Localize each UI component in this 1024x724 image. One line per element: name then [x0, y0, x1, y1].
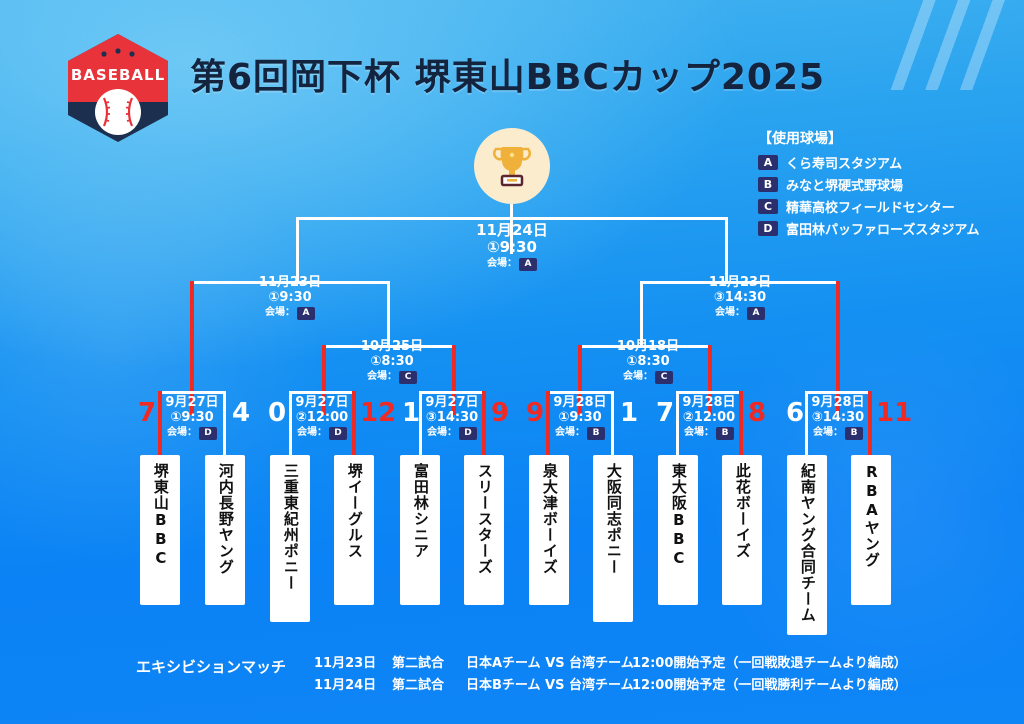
- bracket-line-r1-m6-horizontal: [805, 391, 871, 394]
- venue-label: 会場：: [427, 427, 457, 438]
- venue-name-c: 精華高校フィールドセンター: [786, 197, 955, 216]
- semifinal-right-venue: 会場：A: [672, 307, 808, 320]
- team-name-8: 大阪同志ポニー: [605, 463, 621, 575]
- match-info-round1-4: 9月28日 ①9:30 会場：B: [548, 396, 612, 440]
- venue-label: 会場：: [684, 427, 714, 438]
- bracket-line-r1-m5-horizontal: [676, 391, 742, 394]
- exhibition-row-1-game: 第二試合: [392, 652, 450, 671]
- quarterfinal-left-date: 10月25日: [330, 340, 454, 355]
- round1-6-venue: 会場：B: [806, 427, 870, 440]
- round1-2-date: 9月27日: [290, 396, 354, 411]
- quarterfinal-left-venue-badge: C: [399, 371, 417, 384]
- match-info-quarterfinal-right: 10月18日 ①8:30 会場：C: [586, 340, 710, 384]
- bracket-line-r1-m4-horizontal: [547, 391, 613, 394]
- round1-2-venue-badge: D: [329, 427, 347, 440]
- team-plate-11[interactable]: 紀南ヤング合同チーム: [787, 455, 827, 635]
- venue-label: 会場：: [715, 307, 745, 318]
- venue-name-d: 富田林パッファローズスタジアム: [786, 219, 979, 238]
- team-name-4: 堺イーグルス: [346, 463, 362, 559]
- exhibition-row-2-date: 11月24日: [314, 674, 376, 693]
- match-info-semifinal-right: 11月23日 ③14:30 会場：A: [672, 276, 808, 320]
- venue-badge-c: C: [758, 199, 778, 214]
- final-venue: 会場：A: [442, 258, 582, 271]
- quarterfinal-right-venue: 会場：C: [586, 371, 710, 384]
- match-info-round1-2: 9月27日 ②12:00 会場：D: [290, 396, 354, 440]
- round1-2-venue: 会場：D: [290, 427, 354, 440]
- round1-2-time: ②12:00: [290, 411, 354, 426]
- bracket-line-final-right-drop: [725, 217, 728, 283]
- match-info-round1-3: 9月27日 ③14:30 会場：D: [420, 396, 484, 440]
- score-round1-5-right: 8: [748, 400, 766, 426]
- team-plate-7[interactable]: 泉大津ボーイズ: [529, 455, 569, 605]
- match-info-quarterfinal-left: 10月25日 ①8:30 会場：C: [330, 340, 454, 384]
- round1-1-time: ①9:30: [160, 411, 224, 426]
- score-round1-6-right: 11: [876, 400, 912, 426]
- round1-5-date: 9月28日: [677, 396, 741, 411]
- venue-label: 会場：: [813, 427, 843, 438]
- round1-4-venue: 会場：B: [548, 427, 612, 440]
- exhibition-row-2-match: 日本Bチーム VS 台湾チーム: [466, 674, 616, 693]
- team-plate-2[interactable]: 河内長野ヤング: [205, 455, 245, 605]
- round1-3-venue: 会場：D: [420, 427, 484, 440]
- round1-1-venue-badge: D: [199, 427, 217, 440]
- team-name-5: 富田林シニア: [412, 463, 428, 559]
- score-round1-1-left: 7: [138, 400, 156, 426]
- semifinal-left-venue-badge: A: [297, 307, 315, 320]
- venue-label: 会場：: [487, 258, 517, 269]
- match-info-round1-1: 9月27日 ①9:30 会場：D: [160, 396, 224, 440]
- team-name-12: RBAヤング: [863, 463, 879, 568]
- score-round1-4-right: 1: [620, 400, 638, 426]
- match-info-final: 11月24日 ①9:30 会場：A: [442, 222, 582, 271]
- round1-1-venue: 会場：D: [160, 427, 224, 440]
- team-plate-10[interactable]: 此花ボーイズ: [722, 455, 762, 605]
- score-round1-3-left: 1: [402, 400, 420, 426]
- round1-4-time: ①9:30: [548, 411, 612, 426]
- venue-badge-a: A: [758, 155, 778, 170]
- round1-5-venue-badge: B: [716, 427, 734, 440]
- round1-3-time: ③14:30: [420, 411, 484, 426]
- team-name-7: 泉大津ボーイズ: [541, 463, 557, 575]
- team-plate-4[interactable]: 堺イーグルス: [334, 455, 374, 605]
- exhibition-row: 11月23日 第二試合 日本Aチーム VS 台湾チーム 12:00開始予定（一回…: [314, 652, 923, 671]
- team-plate-6[interactable]: スリースターズ: [464, 455, 504, 605]
- round1-5-time: ②12:00: [677, 411, 741, 426]
- venue-legend-item: B みなと堺硬式野球場: [758, 175, 979, 194]
- round1-4-venue-badge: B: [587, 427, 605, 440]
- bracket-line-final-horizontal: [296, 217, 728, 220]
- venue-legend-title: 【使用球場】: [758, 128, 979, 148]
- score-round1-2-left: 0: [268, 400, 286, 426]
- venue-label: 会場：: [367, 371, 397, 382]
- page-title: 第6回岡下杯 堺東山BBCカップ2025: [190, 48, 825, 100]
- semifinal-right-time: ③14:30: [672, 291, 808, 306]
- team-plate-1[interactable]: 堺東山BBC: [140, 455, 180, 605]
- match-info-round1-6: 9月28日 ③14:30 会場：B: [806, 396, 870, 440]
- match-info-semifinal-left: 11月23日 ①9:30 会場：A: [222, 276, 358, 320]
- team-plate-9[interactable]: 東大阪BBC: [658, 455, 698, 605]
- semifinal-left-date: 11月23日: [222, 276, 358, 291]
- quarterfinal-left-venue: 会場：C: [330, 371, 454, 384]
- exhibition-row-1-date: 11月23日: [314, 652, 376, 671]
- corner-stripes-decoration: [834, 0, 1024, 90]
- match-info-round1-5: 9月28日 ②12:00 会場：B: [677, 396, 741, 440]
- venue-legend-item: C 精華高校フィールドセンター: [758, 197, 979, 216]
- bracket-line-final-left-drop: [296, 217, 299, 283]
- bracket-line-semi-left-loser-drop: [387, 281, 390, 347]
- exhibition-title: エキシビションマッチ: [136, 656, 286, 677]
- team-name-2: 河内長野ヤング: [217, 463, 233, 575]
- final-venue-badge: A: [519, 258, 537, 271]
- venue-label: 会場：: [297, 427, 327, 438]
- team-plate-5[interactable]: 富田林シニア: [400, 455, 440, 605]
- round1-6-time: ③14:30: [806, 411, 870, 426]
- team-plate-8[interactable]: 大阪同志ポニー: [593, 455, 633, 622]
- semifinal-left-time: ①9:30: [222, 291, 358, 306]
- semifinal-left-venue: 会場：A: [222, 307, 358, 320]
- exhibition-row-2-note: 12:00開始予定（一回戦勝利チームより編成）: [632, 674, 907, 693]
- exhibition-section: エキシビションマッチ 11月23日 第二試合 日本Aチーム VS 台湾チーム 1…: [136, 652, 923, 696]
- venue-legend: 【使用球場】 A くら寿司スタジアム B みなと堺硬式野球場 C 精華高校フィー…: [758, 128, 979, 241]
- round1-6-venue-badge: B: [845, 427, 863, 440]
- team-name-10: 此花ボーイズ: [734, 463, 750, 559]
- team-plate-3[interactable]: 三重東紀州ポニー: [270, 455, 310, 622]
- trophy-icon: [474, 128, 550, 204]
- semifinal-right-date: 11月23日: [672, 276, 808, 291]
- baseball-logo-icon: BASEBALL: [64, 32, 172, 144]
- svg-text:BASEBALL: BASEBALL: [71, 66, 165, 84]
- bracket-line-r1-m3-horizontal: [419, 391, 485, 394]
- score-round1-6-left: 6: [786, 400, 804, 426]
- final-time: ①9:30: [442, 239, 582, 256]
- round1-3-venue-badge: D: [459, 427, 477, 440]
- quarterfinal-right-venue-badge: C: [655, 371, 673, 384]
- score-round1-3-right: 9: [491, 400, 509, 426]
- venue-label: 会場：: [623, 371, 653, 382]
- score-round1-1-right: 4: [232, 400, 250, 426]
- score-round1-2-right: 12: [360, 400, 396, 426]
- exhibition-row-1-match: 日本Aチーム VS 台湾チーム: [466, 652, 616, 671]
- venue-badge-b: B: [758, 177, 778, 192]
- quarterfinal-right-time: ①8:30: [586, 355, 710, 370]
- score-round1-5-left: 7: [656, 400, 674, 426]
- venue-label: 会場：: [555, 427, 585, 438]
- round1-4-date: 9月28日: [548, 396, 612, 411]
- team-name-3: 三重東紀州ポニー: [282, 463, 298, 591]
- bracket-line-semi-right-loser-drop: [640, 281, 643, 347]
- quarterfinal-left-time: ①8:30: [330, 355, 454, 370]
- semifinal-right-venue-badge: A: [747, 307, 765, 320]
- round1-3-date: 9月27日: [420, 396, 484, 411]
- venue-badge-d: D: [758, 221, 778, 236]
- team-plate-12[interactable]: RBAヤング: [851, 455, 891, 605]
- venue-label: 会場：: [167, 427, 197, 438]
- venue-legend-item: D 富田林パッファローズスタジアム: [758, 219, 979, 238]
- team-name-9: 東大阪BBC: [670, 463, 686, 568]
- venue-label: 会場：: [265, 307, 295, 318]
- score-round1-4-left: 9: [526, 400, 544, 426]
- team-name-6: スリースターズ: [476, 463, 492, 575]
- bracket-line-r1-m2-horizontal: [289, 391, 355, 394]
- round1-1-date: 9月27日: [160, 396, 224, 411]
- team-name-1: 堺東山BBC: [152, 463, 168, 568]
- team-name-11: 紀南ヤング合同チーム: [799, 463, 815, 623]
- venue-legend-item: A くら寿司スタジアム: [758, 153, 979, 172]
- quarterfinal-right-date: 10月18日: [586, 340, 710, 355]
- exhibition-row-2-game: 第二試合: [392, 674, 450, 693]
- exhibition-row-1-note: 12:00開始予定（一回戦敗退チームより編成）: [632, 652, 907, 671]
- final-date: 11月24日: [442, 222, 582, 239]
- venue-name-a: くら寿司スタジアム: [786, 153, 902, 172]
- round1-6-date: 9月28日: [806, 396, 870, 411]
- bracket-line-r1-m1-horizontal: [159, 391, 225, 394]
- round1-5-venue: 会場：B: [677, 427, 741, 440]
- exhibition-row: 11月24日 第二試合 日本Bチーム VS 台湾チーム 12:00開始予定（一回…: [314, 674, 923, 693]
- venue-name-b: みなと堺硬式野球場: [786, 175, 903, 194]
